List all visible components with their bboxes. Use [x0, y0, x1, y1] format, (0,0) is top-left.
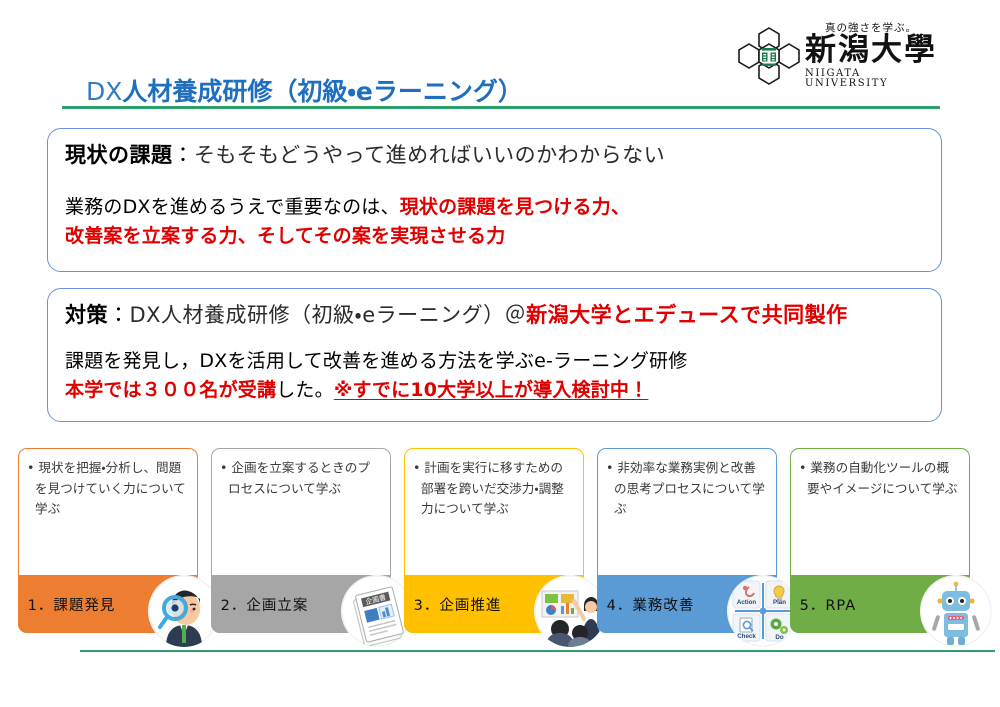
curriculum-card-3-footer: 3．企画推進: [404, 575, 585, 633]
title-underline-rule: [62, 106, 940, 109]
countermeasure-box: 対策：DX人材養成研修（初級・eラーニング）＠新潟大学とエデュースで共同製作 課…: [47, 288, 942, 422]
svg-text:Do: Do: [776, 634, 784, 641]
page-title-prefix: DX: [86, 77, 122, 106]
curriculum-card-3-label: 3．企画推進: [414, 594, 502, 615]
logo-name-en: NIIGATA UNIVERSITY: [805, 69, 937, 89]
niigata-university-logo: 真の強さを学ぶ。 新潟大學 NIIGATA UNIVERSITY: [737, 20, 937, 92]
bottom-decorative-rule: [80, 650, 995, 652]
curriculum-card-1[interactable]: • 現状を把握・分析し、問題を見つけていく力について学ぶ 1．課題発見: [18, 448, 198, 633]
pdca-cycle-icon: Action Plan Check Do: [727, 575, 799, 647]
current-issue-heading-separator: ：: [173, 143, 195, 167]
slide-canvas: 真の強さを学ぶ。 新潟大學 NIIGATA UNIVERSITY DX人材養成研…: [0, 0, 1000, 707]
countermeasure-line2-red-underline: ※すでに10大学以上が導入検討中！: [334, 379, 649, 401]
curriculum-card-3-body: • 計画を実行に移すための部署を跨いだ交渉力・調整力について学ぶ: [405, 449, 583, 577]
curriculum-card-row: • 現状を把握・分析し、問題を見つけていく力について学ぶ 1．課題発見: [0, 448, 1000, 633]
curriculum-card-4-footer: 4．業務改善 Action Plan: [597, 575, 778, 633]
current-issue-body: 業務のDXを進めるうえで重要なのは、現状の課題を見つける力、 改善案を立案する力…: [65, 193, 630, 251]
curriculum-card-5[interactable]: • 業務の自動化ツールの概要やイメージについて学ぶ 5．RPA: [790, 448, 970, 633]
countermeasure-heading-label: 対策: [65, 303, 108, 327]
curriculum-card-3-bullet: • 計画を実行に移すための部署を跨いだ交渉力・調整力について学ぶ: [413, 458, 575, 520]
countermeasure-line2-red: 本学では３００名が受講: [65, 379, 276, 401]
curriculum-card-2-bullet: • 企画を立案するときのプロセスについて学ぶ: [220, 458, 382, 499]
current-issue-body-line2: 改善案を立案する力、そしてその案を実現させる力: [65, 222, 630, 251]
curriculum-card-4[interactable]: • 非効率な業務実例と改善の思考プロセスについて学ぶ 4．業務改善 Action: [597, 448, 777, 633]
current-issue-heading: 現状の課題：そもそもどうやって進めればいいのかわからない: [65, 139, 665, 169]
countermeasure-heading-red: 新潟大学とエデュースで共同製作: [526, 303, 847, 327]
robot-icon: [920, 575, 992, 647]
curriculum-card-1-body: • 現状を把握・分析し、問題を見つけていく力について学ぶ: [19, 449, 197, 577]
svg-text:Action: Action: [737, 599, 756, 606]
logo-wordmark: 真の強さを学ぶ。 新潟大學 NIIGATA UNIVERSITY: [805, 23, 937, 89]
countermeasure-body-line2: 本学では３００名が受講した。※すでに10大学以上が導入検討中！: [65, 376, 687, 405]
curriculum-card-5-body: • 業務の自動化ツールの概要やイメージについて学ぶ: [791, 449, 969, 577]
curriculum-card-5-label: 5．RPA: [800, 594, 857, 615]
current-issue-line1-red: 現状の課題を見つける力、: [400, 196, 630, 218]
curriculum-card-5-bullet: • 業務の自動化ツールの概要やイメージについて学ぶ: [799, 458, 961, 499]
current-issue-line1-black: 業務のDXを進めるうえで重要なのは、: [65, 196, 400, 218]
logo-name-ja: 新潟大學: [805, 34, 937, 67]
curriculum-card-2-body: • 企画を立案するときのプロセスについて学ぶ: [212, 449, 390, 577]
curriculum-card-2-label: 2．企画立案: [221, 594, 309, 615]
svg-text:Check: Check: [738, 633, 757, 640]
curriculum-card-1-label: 1．課題発見: [28, 594, 116, 615]
honeycomb-logo-icon: [737, 24, 801, 88]
countermeasure-heading: 対策：DX人材養成研修（初級・eラーニング）＠新潟大学とエデュースで共同製作: [65, 299, 848, 329]
current-issue-heading-label: 現状の課題: [65, 143, 173, 167]
countermeasure-body: 課題を発見し，DXを活用して改善を進める方法を学ぶe-ラーニング研修 本学では３…: [65, 347, 687, 405]
curriculum-card-4-label: 4．業務改善: [607, 594, 695, 615]
curriculum-card-2[interactable]: • 企画を立案するときのプロセスについて学ぶ 2．企画立案 企画書: [211, 448, 391, 633]
curriculum-card-4-body: • 非効率な業務実例と改善の思考プロセスについて学ぶ: [598, 449, 776, 577]
countermeasure-body-line1: 課題を発見し，DXを活用して改善を進める方法を学ぶe-ラーニング研修: [65, 347, 687, 376]
current-issue-box: 現状の課題：そもそもどうやって進めればいいのかわからない 業務のDXを進めるうえ…: [47, 128, 942, 272]
businessman-magnifier-icon: [148, 575, 220, 647]
curriculum-card-1-footer: 1．課題発見: [18, 575, 199, 633]
curriculum-card-5-footer: 5．RPA: [790, 575, 971, 633]
current-issue-body-line1: 業務のDXを進めるうえで重要なのは、現状の課題を見つける力、: [65, 193, 630, 222]
countermeasure-heading-separator: ：: [108, 303, 130, 327]
curriculum-card-3[interactable]: • 計画を実行に移すための部署を跨いだ交渉力・調整力について学ぶ 3．企画推進: [404, 448, 584, 633]
proposal-documents-icon: 企画書: [341, 575, 413, 647]
presentation-meeting-icon: [534, 575, 606, 647]
svg-text:Plan: Plan: [773, 599, 786, 606]
current-issue-heading-rest: そもそもどうやって進めればいいのかわからない: [194, 143, 665, 167]
curriculum-card-1-bullet: • 現状を把握・分析し、問題を見つけていく力について学ぶ: [27, 458, 189, 520]
page-title: DX人材養成研修（初級・eラーニング）: [86, 72, 523, 108]
countermeasure-line2-black: した。: [276, 379, 334, 401]
curriculum-card-2-footer: 2．企画立案 企画書: [211, 575, 392, 633]
page-title-rest: 人材養成研修（初級・eラーニング）: [122, 77, 522, 106]
curriculum-card-4-bullet: • 非効率な業務実例と改善の思考プロセスについて学ぶ: [606, 458, 768, 520]
countermeasure-heading-rest: DX人材養成研修（初級・eラーニング）＠: [130, 303, 527, 327]
